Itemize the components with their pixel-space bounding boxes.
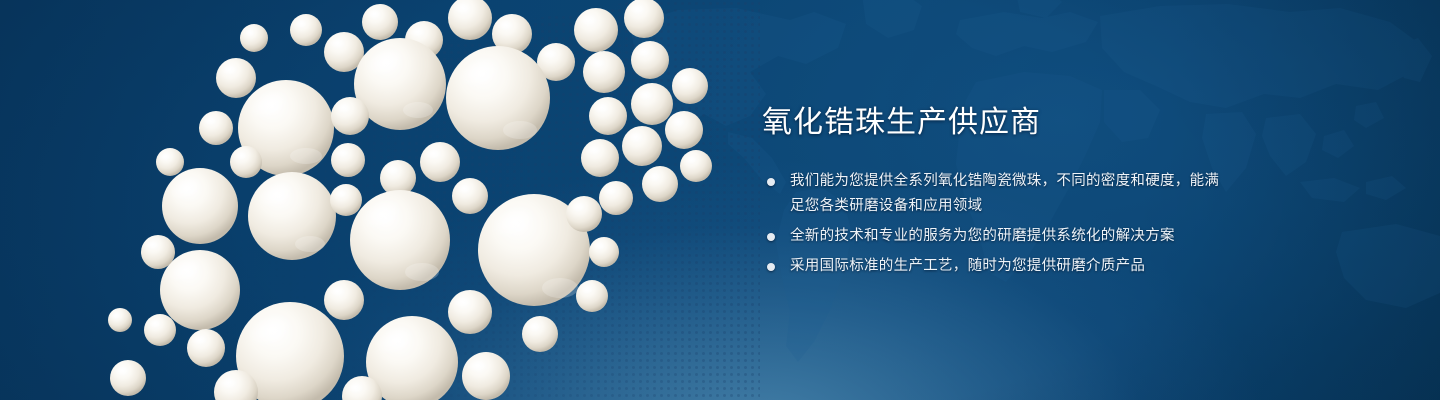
hero-banner: 氧化锆珠生产供应商 我们能为您提供全系列氧化锆陶瓷微珠，不同的密度和硬度，能满足… (0, 0, 1440, 400)
list-item: 全新的技术和专业的服务为您的研磨提供系统化的解决方案 (762, 224, 1232, 249)
list-item-label: 全新的技术和专业的服务为您的研磨提供系统化的解决方案 (790, 224, 1232, 249)
list-item-label: 我们能为您提供全系列氧化锆陶瓷微珠，不同的密度和硬度，能满足您各类研磨设备和应用… (790, 169, 1232, 219)
feature-list: 我们能为您提供全系列氧化锆陶瓷微珠，不同的密度和硬度，能满足您各类研磨设备和应用… (762, 169, 1232, 279)
list-item: 我们能为您提供全系列氧化锆陶瓷微珠，不同的密度和硬度，能满足您各类研磨设备和应用… (762, 169, 1232, 219)
bullet-dot-icon (767, 178, 775, 186)
page-title: 氧化锆珠生产供应商 (762, 104, 1232, 142)
bullet-dot-icon (767, 263, 775, 271)
list-item-label: 采用国际标准的生产工艺，随时为您提供研磨介质产品 (790, 254, 1232, 279)
bullet-dot-icon (767, 233, 775, 241)
list-item: 采用国际标准的生产工艺，随时为您提供研磨介质产品 (762, 254, 1232, 279)
banner-copy: 氧化锆珠生产供应商 我们能为您提供全系列氧化锆陶瓷微珠，不同的密度和硬度，能满足… (762, 104, 1232, 279)
zirconia-beads-photo (0, 0, 760, 400)
